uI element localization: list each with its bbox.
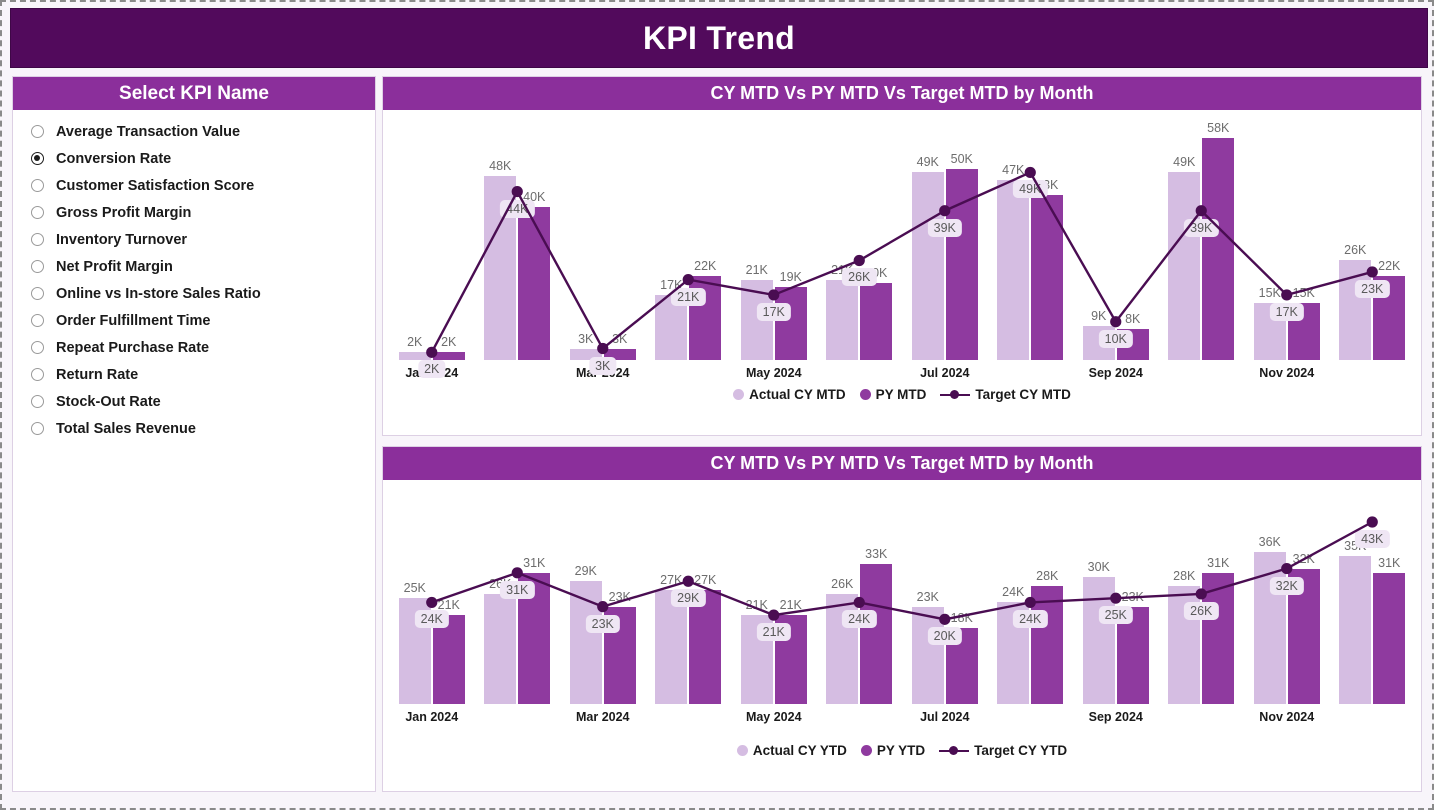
target-marker[interactable] (1110, 593, 1121, 604)
page-frame: KPI Trend Select KPI Name Average Transa… (0, 0, 1434, 810)
legend-item[interactable]: Target CY MTD (940, 387, 1071, 402)
target-marker[interactable] (512, 567, 523, 578)
legend-dot-icon (860, 389, 871, 400)
legend-line-icon (939, 745, 969, 756)
radio-unselected-icon[interactable] (31, 233, 44, 246)
target-marker[interactable] (854, 597, 865, 608)
target-marker[interactable] (1196, 588, 1207, 599)
radio-unselected-icon[interactable] (31, 206, 44, 219)
radio-unselected-icon[interactable] (31, 314, 44, 327)
chart-mtd-target-line (383, 110, 1421, 406)
kpi-radio-row[interactable]: Online vs In-store Sales Ratio (31, 280, 375, 307)
radio-unselected-icon[interactable] (31, 125, 44, 138)
legend-item[interactable]: PY MTD (860, 387, 927, 402)
chart-ytd-plot[interactable]: 25K21KJan 202426K31K29K23KMar 202427K27K… (383, 480, 1421, 762)
kpi-radio-row[interactable]: Return Rate (31, 361, 375, 388)
legend-label: Target CY YTD (974, 743, 1067, 758)
kpi-radio-row[interactable]: Inventory Turnover (31, 226, 375, 253)
radio-selected-icon[interactable] (31, 152, 44, 165)
target-marker[interactable] (1367, 516, 1378, 527)
target-marker[interactable] (597, 601, 608, 612)
target-marker[interactable] (1281, 563, 1292, 574)
legend-label: PY YTD (877, 743, 925, 758)
chart-mtd-legend[interactable]: Actual CY MTDPY MTDTarget CY MTD (383, 387, 1421, 402)
kpi-radio-row[interactable]: Customer Satisfaction Score (31, 172, 375, 199)
target-marker[interactable] (939, 205, 950, 216)
kpi-radio-label: Stock-Out Rate (56, 394, 161, 410)
legend-label: PY MTD (876, 387, 927, 402)
chart-mtd-plot[interactable]: 2K2KJan 202448K40K3K3KMar 202417K22K21K1… (383, 110, 1421, 406)
target-marker[interactable] (512, 186, 523, 197)
kpi-radio-label: Average Transaction Value (56, 124, 240, 140)
target-marker[interactable] (683, 274, 694, 285)
chart-ytd-title: CY MTD Vs PY MTD Vs Target MTD by Month (710, 453, 1093, 474)
legend-label: Actual CY YTD (753, 743, 847, 758)
kpi-slicer-panel: Select KPI Name Average Transaction Valu… (12, 76, 376, 792)
kpi-radio-label: Conversion Rate (56, 151, 171, 167)
radio-unselected-icon[interactable] (31, 287, 44, 300)
radio-unselected-icon[interactable] (31, 422, 44, 435)
target-marker[interactable] (1025, 597, 1036, 608)
kpi-radio-label: Inventory Turnover (56, 232, 187, 248)
kpi-radio-label: Online vs In-store Sales Ratio (56, 286, 261, 302)
slicer-header: Select KPI Name (13, 77, 375, 110)
target-marker[interactable] (768, 610, 779, 621)
target-marker[interactable] (1367, 266, 1378, 277)
legend-label: Actual CY MTD (749, 387, 846, 402)
kpi-radio-label: Net Profit Margin (56, 259, 173, 275)
legend-item[interactable]: Actual CY YTD (737, 743, 847, 758)
kpi-radio-row[interactable]: Order Fulfillment Time (31, 307, 375, 334)
target-marker[interactable] (939, 614, 950, 625)
target-marker[interactable] (1196, 205, 1207, 216)
kpi-radio-row[interactable]: Gross Profit Margin (31, 199, 375, 226)
chart-card-ytd: CY MTD Vs PY MTD Vs Target MTD by Month … (382, 446, 1422, 792)
radio-unselected-icon[interactable] (31, 368, 44, 381)
chart-mtd-header: CY MTD Vs PY MTD Vs Target MTD by Month (383, 77, 1421, 110)
kpi-radio-row[interactable]: Repeat Purchase Rate (31, 334, 375, 361)
chart-card-mtd: CY MTD Vs PY MTD Vs Target MTD by Month … (382, 76, 1422, 436)
chart-ytd-legend[interactable]: Actual CY YTDPY YTDTarget CY YTD (383, 743, 1421, 758)
target-marker[interactable] (768, 289, 779, 300)
target-marker[interactable] (1281, 289, 1292, 300)
legend-item[interactable]: Target CY YTD (939, 743, 1067, 758)
kpi-radio-label: Return Rate (56, 367, 138, 383)
kpi-radio-label: Order Fulfillment Time (56, 313, 210, 329)
target-marker[interactable] (683, 576, 694, 587)
target-marker[interactable] (597, 343, 608, 354)
target-marker[interactable] (1110, 316, 1121, 327)
kpi-radio-label: Repeat Purchase Rate (56, 340, 209, 356)
kpi-radio-label: Gross Profit Margin (56, 205, 191, 221)
kpi-radio-row[interactable]: Average Transaction Value (31, 118, 375, 145)
legend-line-icon (940, 389, 970, 400)
legend-dot-icon (861, 745, 872, 756)
page-title: KPI Trend (643, 20, 795, 57)
radio-unselected-icon[interactable] (31, 260, 44, 273)
target-marker[interactable] (426, 597, 437, 608)
target-marker[interactable] (426, 347, 437, 358)
dashboard-header: KPI Trend (10, 8, 1428, 68)
chart-ytd-target-line (383, 480, 1421, 762)
kpi-radio-row[interactable]: Net Profit Margin (31, 253, 375, 280)
radio-unselected-icon[interactable] (31, 395, 44, 408)
target-marker[interactable] (854, 255, 865, 266)
legend-label: Target CY MTD (975, 387, 1071, 402)
kpi-radio-label: Customer Satisfaction Score (56, 178, 254, 194)
kpi-radio-row[interactable]: Conversion Rate (31, 145, 375, 172)
radio-unselected-icon[interactable] (31, 179, 44, 192)
kpi-radio-label: Total Sales Revenue (56, 421, 196, 437)
kpi-radio-list[interactable]: Average Transaction ValueConversion Rate… (13, 110, 375, 442)
kpi-radio-row[interactable]: Stock-Out Rate (31, 388, 375, 415)
legend-dot-icon (733, 389, 744, 400)
legend-item[interactable]: PY YTD (861, 743, 925, 758)
legend-item[interactable]: Actual CY MTD (733, 387, 846, 402)
target-marker[interactable] (1025, 167, 1036, 178)
kpi-radio-row[interactable]: Total Sales Revenue (31, 415, 375, 442)
chart-ytd-header: CY MTD Vs PY MTD Vs Target MTD by Month (383, 447, 1421, 480)
slicer-title: Select KPI Name (119, 83, 269, 105)
chart-mtd-title: CY MTD Vs PY MTD Vs Target MTD by Month (710, 83, 1093, 104)
radio-unselected-icon[interactable] (31, 341, 44, 354)
legend-dot-icon (737, 745, 748, 756)
